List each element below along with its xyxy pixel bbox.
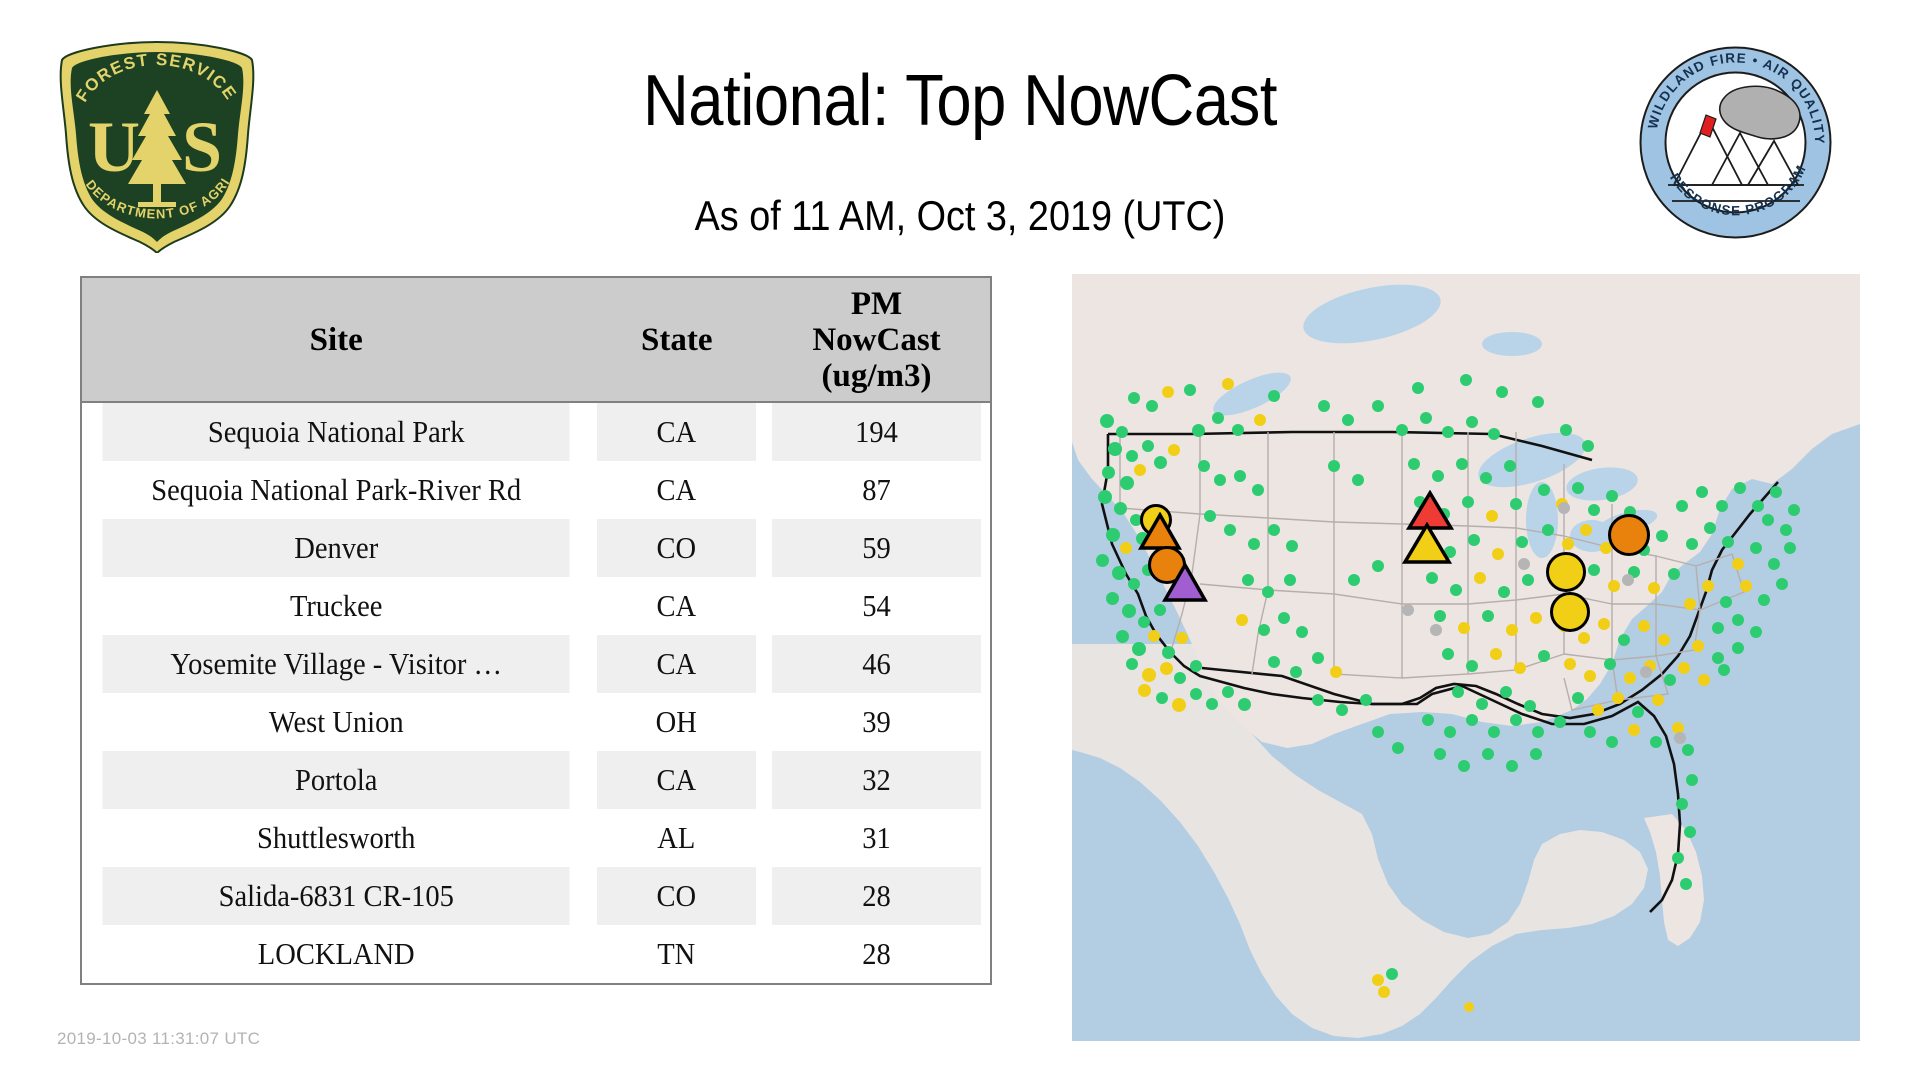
marker-moderate-triangle [1402,522,1452,566]
cell-state: CO [597,519,756,577]
cell-state: CA [597,635,756,693]
column-header-pm-nowcast: PM NowCast (ug/m3) [763,278,990,402]
cell-site: Denver [102,519,570,577]
marker-usg-circle-ohio [1608,514,1650,556]
table-row[interactable]: Truckee CA 54 [82,577,990,635]
page-subtitle: As of 11 AM, Oct 3, 2019 (UTC) [96,192,1824,240]
table-row[interactable]: Shuttlesworth AL 31 [82,809,990,867]
cell-state: CA [597,577,756,635]
table-row[interactable]: West Union OH 39 [82,693,990,751]
cell-site: Shuttlesworth [102,809,570,867]
table-row[interactable]: Yosemite Village - Visitor … CA 46 [82,635,990,693]
cell-site: Sequoia National Park-River Rd [102,461,570,519]
column-header-state: State [590,278,763,402]
marker-very-unhealthy-triangle [1162,562,1208,604]
cell-site: Yosemite Village - Visitor … [102,635,570,693]
cell-site: Truckee [102,577,570,635]
cell-pm: 46 [772,635,981,693]
cell-state: CA [597,461,756,519]
cell-site: Salida-6831 CR-105 [102,867,570,925]
table-body: Sequoia National Park CA 194 Sequoia Nat… [82,402,990,983]
table-header-row: Site State PM NowCast (ug/m3) [82,278,990,402]
cell-state: AL [597,809,756,867]
cell-site: West Union [102,693,570,751]
marker-moderate-circle-tennessee [1546,552,1586,592]
cell-pm: 31 [772,809,981,867]
cell-pm: 54 [772,577,981,635]
marker-moderate-circle-alabama [1550,592,1590,632]
cell-pm: 28 [772,925,981,983]
cell-pm: 59 [772,519,981,577]
table-row[interactable]: Denver CO 59 [82,519,990,577]
table-row[interactable]: Salida-6831 CR-105 CO 28 [82,867,990,925]
table-row[interactable]: Sequoia National Park-River Rd CA 87 [82,461,990,519]
cell-site: Sequoia National Park [102,402,570,461]
cell-pm: 87 [772,461,981,519]
cell-pm: 194 [772,402,981,461]
cell-state: CA [597,402,756,461]
footer-timestamp: 2019-10-03 11:31:07 UTC [57,1029,260,1049]
cell-state: CA [597,751,756,809]
cell-state: OH [597,693,756,751]
slide-canvas: FOREST SERVICE DEPARTMENT OF AGRICULTURE… [0,0,1920,1080]
cell-pm: 32 [772,751,981,809]
cell-site: Portola [102,751,570,809]
table-row[interactable]: Sequoia National Park CA 194 [82,402,990,461]
top-nowcast-table: Site State PM NowCast (ug/m3) Sequoia Na… [80,276,992,985]
page-title: National: Top NowCast [115,58,1805,144]
cell-pm: 28 [772,867,981,925]
column-header-site: Site [82,278,590,402]
cell-state: CO [597,867,756,925]
aqi-monitor-map[interactable]: Air Quality Index Hazardous Very Unhealt… [1072,274,1860,1041]
cell-pm: 39 [772,693,981,751]
cell-state: TN [597,925,756,983]
table-row[interactable]: Portola CA 32 [82,751,990,809]
cell-site: LOCKLAND [102,925,570,983]
table-row[interactable]: LOCKLAND TN 28 [82,925,990,983]
